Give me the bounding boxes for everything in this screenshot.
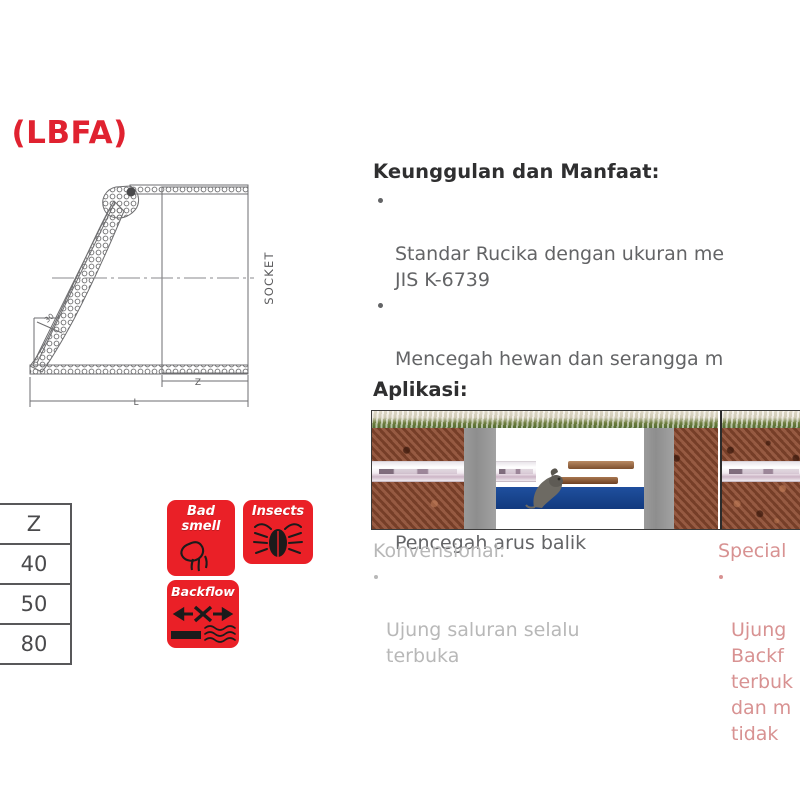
pipe-left: [372, 461, 464, 482]
application-photo-special: [720, 411, 800, 529]
benefit-item: Mencegah hewan dan serangga m: [373, 294, 800, 372]
caption-conventional: Konvensional: Ujung saluran selalu terbu…: [373, 538, 673, 669]
benefit-item-text: Standar Rucika dengan ukuran me JIS K-67…: [395, 243, 724, 291]
nose-smell-icon: [167, 534, 235, 574]
application-heading: Aplikasi:: [373, 378, 468, 401]
caption-conventional-list: Ujung saluran selalu terbuka: [373, 565, 673, 669]
badge-bad-smell-label: Bad smell: [167, 504, 235, 534]
dim-l-label: L: [133, 398, 138, 408]
caption-conventional-title: Konvensional:: [373, 538, 673, 564]
badge-insects: Insects: [243, 500, 313, 564]
caption-item-text: Ujung saluran selalu terbuka: [386, 619, 580, 667]
table-cell: 50: [0, 584, 71, 624]
application-photos: [371, 410, 800, 530]
caption-special-list: Ujung Backf terbuk dan m tidak: [718, 565, 800, 747]
bug-icon: [243, 521, 313, 564]
trench-wall-left: [464, 428, 496, 529]
bullet-dot-icon: [374, 575, 378, 579]
caption-special-title: Special: [718, 538, 800, 564]
badge-insects-label: Insects: [243, 504, 313, 519]
benefit-item-text: Mencegah hewan dan serangga m: [395, 348, 723, 370]
benefits-heading: Keunggulan dan Manfaat:: [373, 160, 800, 183]
caption-item: Ujung Backf terbuk dan m tidak: [718, 565, 800, 747]
backflow-arrow-icon: [167, 602, 239, 648]
trench-wall-right: [644, 428, 674, 529]
badge-backflow-label: Backflow: [167, 584, 239, 599]
benefit-item: Standar Rucika dengan ukuran me JIS K-67…: [373, 189, 800, 293]
table-cell: 40: [0, 544, 71, 584]
grass-layer: [372, 411, 718, 428]
caption-special: Special Ujung Backf terbuk dan m tidak: [718, 538, 800, 747]
table-row: 2 80: [0, 624, 71, 664]
bullet-dot-icon: [378, 303, 383, 308]
datasheet-page: LVE (LBFA): [0, 0, 800, 800]
grass-layer: [722, 411, 800, 428]
badge-backflow: Backflow: [167, 580, 239, 648]
pipe-buried: [722, 461, 800, 482]
badge-bad-smell: Bad smell: [167, 500, 235, 576]
bullet-dot-icon: [378, 198, 383, 203]
table-row: 1 50: [0, 584, 71, 624]
table-cell: 80: [0, 624, 71, 664]
dim-z-label: Z: [195, 378, 201, 388]
bullet-dot-icon: [719, 575, 723, 579]
page-title: LVE (LBFA): [0, 115, 128, 151]
caption-item: Ujung saluran selalu terbuka: [373, 565, 673, 669]
table-header-row: Z: [0, 504, 71, 544]
caption-item-text: Ujung Backf terbuk dan m tidak: [731, 619, 793, 745]
technical-drawing: Z L 30 SOCKET: [0, 165, 290, 410]
table-row: 5 40: [0, 544, 71, 584]
application-photo-conventional: [372, 411, 718, 529]
rat-icon: [522, 463, 574, 511]
table-header-cell: Z: [0, 504, 71, 544]
dimension-table: Z 5 40 1 50 2 80: [0, 503, 72, 665]
feature-badges: Bad smell Insects: [165, 500, 315, 655]
plank-upper: [568, 461, 634, 469]
socket-label: SOCKET: [262, 251, 276, 304]
